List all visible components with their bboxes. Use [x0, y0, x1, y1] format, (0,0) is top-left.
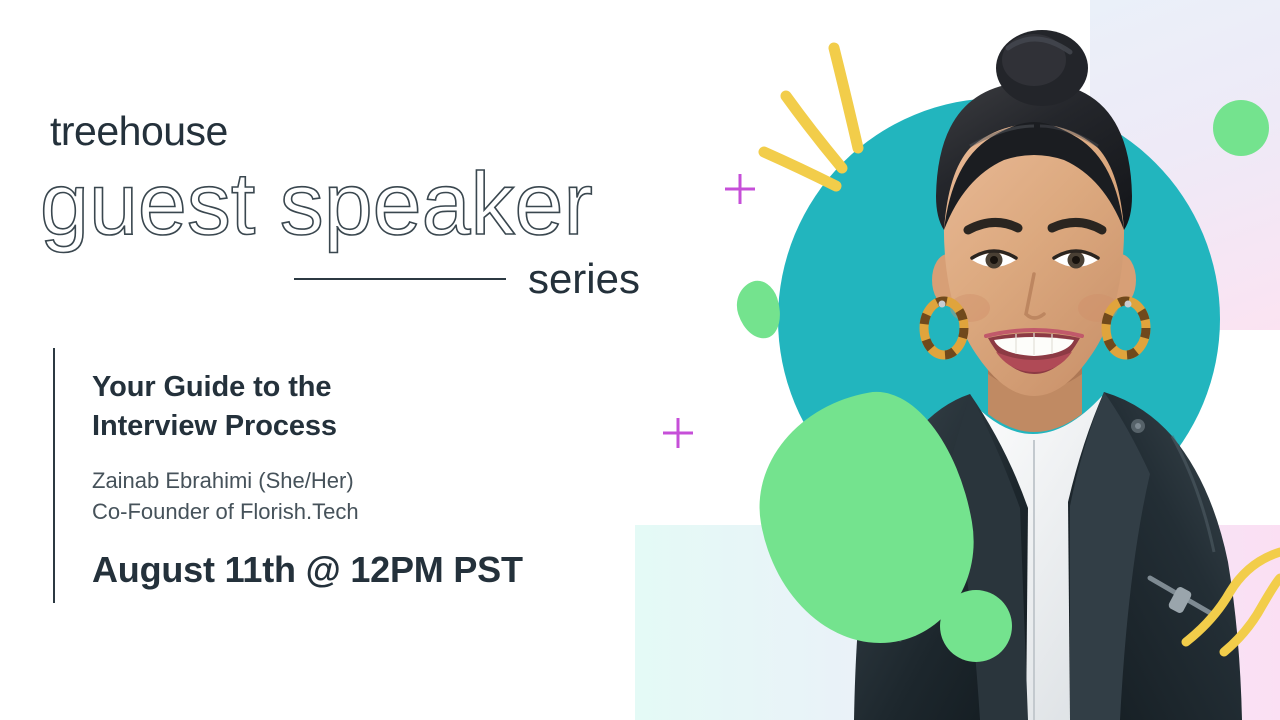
- text-column: treehouse guest speaker series Your Guid…: [0, 0, 680, 720]
- series-row: series: [0, 255, 640, 303]
- presentation-slide: treehouse guest speaker series Your Guid…: [0, 0, 1280, 720]
- info-vertical-rule: [53, 348, 55, 603]
- headline-guest-speaker: guest speaker: [40, 160, 593, 248]
- series-divider-rule: [294, 278, 506, 280]
- green-dot-top-right: [1213, 100, 1269, 156]
- treehouse-wordmark: treehouse: [50, 108, 228, 155]
- talk-title: Your Guide to the Interview Process: [92, 368, 652, 447]
- talk-info-block: Your Guide to the Interview Process Zain…: [92, 368, 652, 591]
- green-dot-bottom: [940, 590, 1012, 662]
- speaker-role: Co-Founder of Florish.Tech: [92, 496, 652, 527]
- series-label: series: [528, 255, 640, 303]
- speaker-name: Zainab Ebrahimi (She/Her): [92, 465, 652, 496]
- event-datetime: August 11th @ 12PM PST: [92, 549, 652, 591]
- plus-mark-upper: [725, 174, 755, 204]
